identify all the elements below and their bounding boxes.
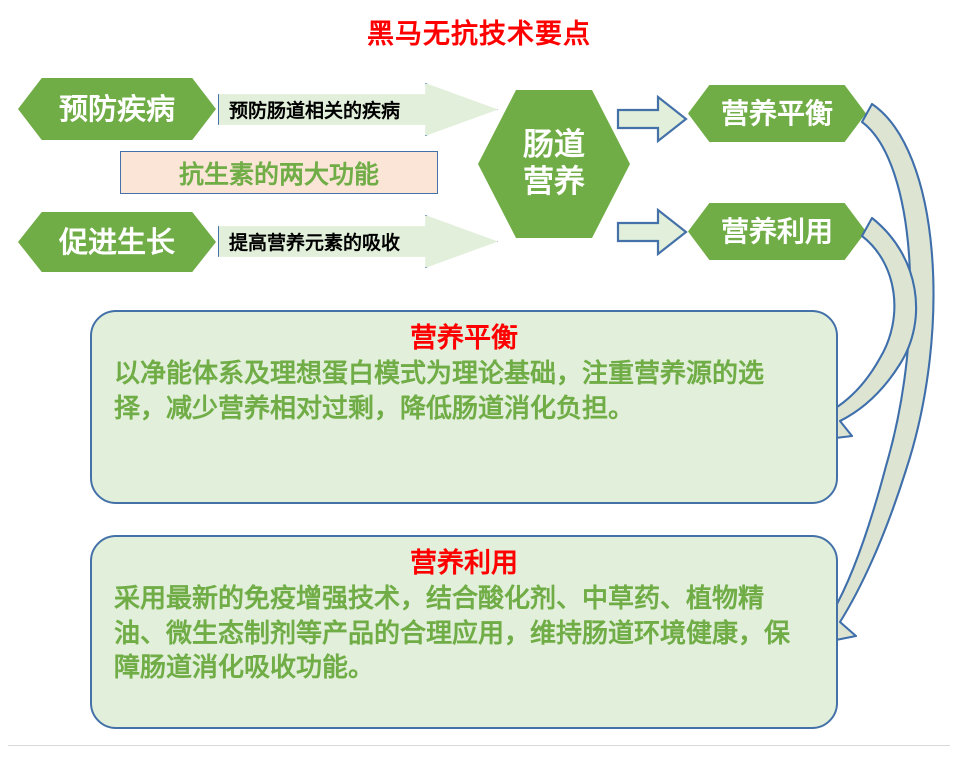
node-prevent-disease-label: 预防疾病: [59, 93, 175, 125]
node-promote-growth-label: 促进生长: [59, 226, 175, 258]
antibiotic-functions-label: 抗生素的两大功能: [179, 155, 379, 191]
arrow-promote-growth-label: 提高营养元素的吸收: [219, 228, 400, 255]
detail-box-utilization-heading: 营养利用: [114, 547, 814, 581]
node-nutrition-utilization[interactable]: 营养利用: [688, 203, 866, 260]
detail-box-utilization[interactable]: 营养利用 采用最新的免疫增强技术，结合酸化剂、中草药、植物精油、微生态制剂等产品…: [90, 535, 838, 729]
detail-box-balance[interactable]: 营养平衡 以净能体系及理想蛋白模式为理论基础，注重营养源的选择，减少营养相对过剩…: [90, 310, 838, 504]
detail-box-balance-heading: 营养平衡: [114, 322, 814, 356]
arrow-prevent-disease[interactable]: 预防肠道相关的疾病: [218, 83, 498, 136]
arrow-prevent-disease-label: 预防肠道相关的疾病: [219, 96, 400, 123]
node-gut-nutrition-line1: 肠道: [523, 127, 585, 163]
detail-box-utilization-body: 采用最新的免疫增强技术，结合酸化剂、中草药、植物精油、微生态制剂等产品的合理应用…: [114, 582, 814, 686]
node-nutrition-balance-label: 营养平衡: [721, 98, 833, 129]
node-gut-nutrition-line2: 营养: [523, 164, 585, 200]
arrow-to-utilization-icon: [616, 207, 688, 257]
arrow-to-balance-icon: [616, 94, 688, 144]
arrow-promote-growth[interactable]: 提高营养元素的吸收: [218, 215, 498, 268]
page-title: 黑马无抗技术要点: [0, 20, 958, 50]
bottom-divider: [8, 745, 950, 746]
node-nutrition-balance[interactable]: 营养平衡: [688, 85, 866, 142]
detail-box-balance-body: 以净能体系及理想蛋白模式为理论基础，注重营养源的选择，减少营养相对过剩，降低肠道…: [114, 357, 814, 427]
node-promote-growth[interactable]: 促进生长: [18, 212, 216, 272]
node-prevent-disease[interactable]: 预防疾病: [18, 78, 216, 140]
node-gut-nutrition[interactable]: 肠道 营养: [478, 90, 630, 238]
node-gut-nutrition-label: 肠道 营养: [523, 127, 585, 200]
node-nutrition-utilization-label: 营养利用: [721, 216, 833, 247]
antibiotic-functions-box[interactable]: 抗生素的两大功能: [120, 151, 438, 194]
slide-canvas: 黑马无抗技术要点 预防疾病 预防肠道相关的疾病 抗生素的两大功能 促进生长 提高…: [0, 0, 958, 757]
